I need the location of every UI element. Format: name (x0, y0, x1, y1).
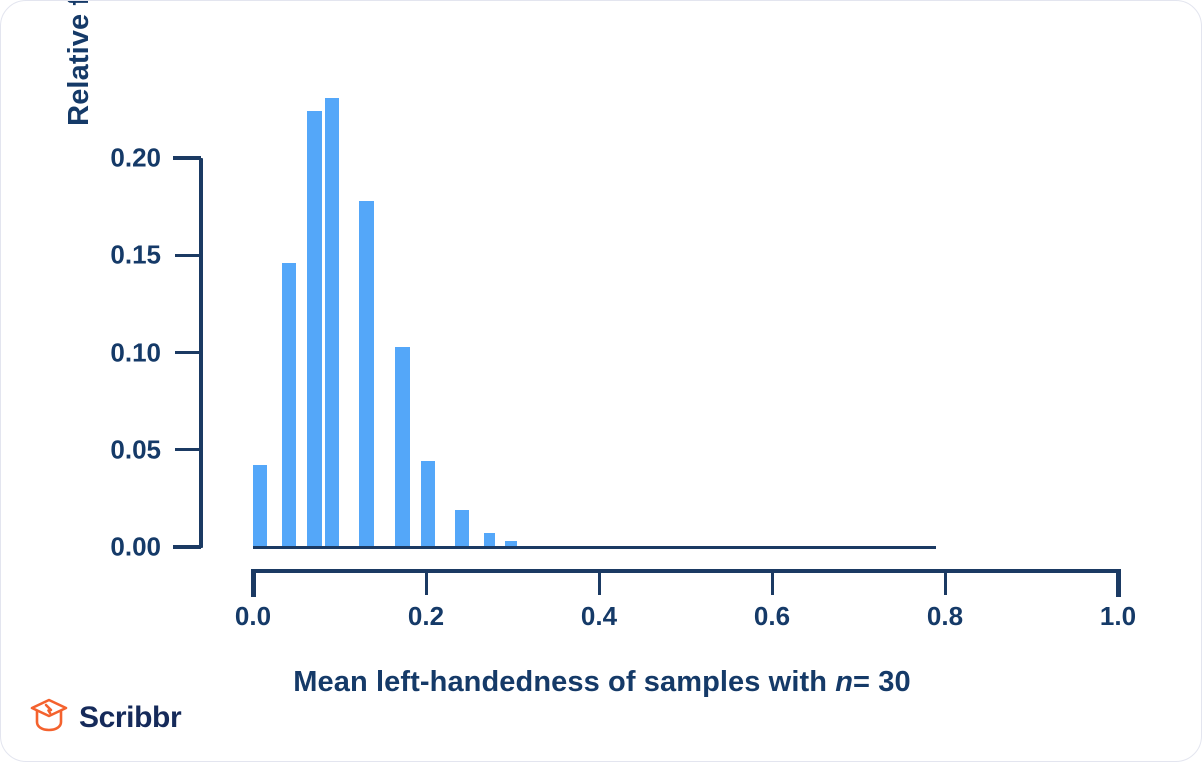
x-axis-tick (1116, 569, 1121, 597)
y-axis-tick (175, 254, 201, 257)
y-axis-tick (175, 351, 201, 354)
x-axis-label-before: Mean left-handedness of samples with (293, 666, 835, 698)
y-axis-tick-label: 0.10 (41, 337, 161, 368)
x-axis-tick-label: 1.0 (1058, 601, 1178, 632)
histogram-bar (325, 98, 339, 547)
brand-logo: Scribbr (29, 696, 181, 739)
x-axis-tick (944, 569, 947, 595)
brand-name: Scribbr (79, 701, 181, 735)
y-axis-tick (173, 545, 201, 549)
x-axis-spine (253, 569, 1119, 573)
histogram-bar (359, 201, 373, 547)
figure-card: Relative frequency 0.000.050.100.150.20 … (0, 0, 1202, 762)
x-axis-tick-label: 0.8 (885, 601, 1005, 632)
x-axis-label: Mean left-handedness of samples with n= … (1, 666, 1202, 699)
x-axis-label-after: = 30 (853, 666, 911, 698)
y-axis-tick-label: 0.15 (41, 240, 161, 271)
y-axis-tick-label: 0.00 (41, 532, 161, 563)
y-axis-tick-label: 0.05 (41, 434, 161, 465)
bar-baseline (253, 546, 936, 549)
x-axis-tick (251, 569, 256, 597)
histogram-bar (455, 510, 469, 547)
histogram-bar (484, 533, 496, 547)
histogram-bars (253, 158, 1118, 547)
x-axis-tick-label: 0.0 (193, 601, 313, 632)
x-axis-tick-label: 0.6 (712, 601, 832, 632)
x-axis-tick (425, 569, 428, 595)
histogram-bar (282, 263, 296, 547)
x-axis-tick (598, 569, 601, 595)
x-axis-tick-label: 0.4 (539, 601, 659, 632)
graduation-cap-icon (29, 696, 69, 739)
x-axis-label-italic-n: n (835, 666, 853, 698)
histogram-figure: Relative frequency 0.000.050.100.150.20 … (1, 1, 1202, 762)
histogram-bar (253, 465, 267, 547)
histogram-bar (421, 461, 435, 547)
x-axis-tick (771, 569, 774, 595)
histogram-bar (307, 111, 321, 547)
y-axis-tick-label: 0.20 (41, 143, 161, 174)
histogram-bar (395, 347, 409, 547)
x-axis-tick-label: 0.2 (366, 601, 486, 632)
y-axis-tick (175, 448, 201, 451)
y-axis-tick (173, 156, 201, 160)
